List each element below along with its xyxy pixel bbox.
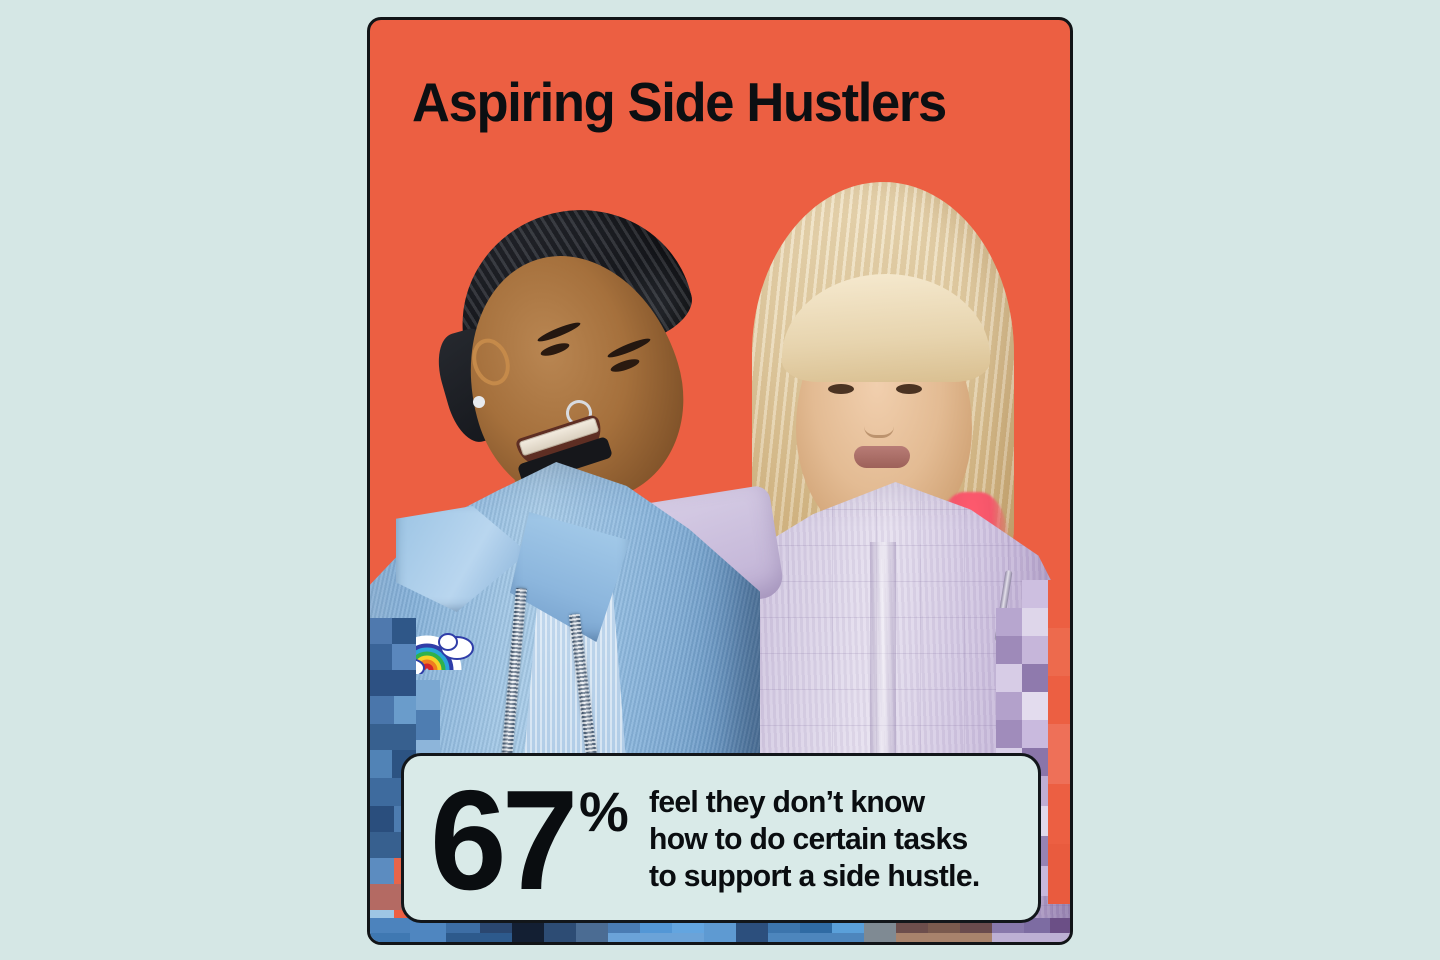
rainbow-pin-icon [393, 612, 475, 674]
poster-card: Aspiring Side Hustlers 67 % feel they do… [367, 17, 1073, 945]
screenshot-root: Aspiring Side Hustlers 67 % feel they do… [0, 0, 1440, 960]
stat-number: 67 [430, 782, 574, 900]
stat-description: feel they don’t know how to do certain t… [649, 783, 980, 894]
lips-right-subject [854, 446, 910, 468]
stat-line-3: to support a side hustle. [649, 857, 980, 894]
percent-symbol: % [579, 784, 627, 840]
nose-right-subject [864, 409, 894, 438]
stat-line-2: how to do certain tasks [649, 820, 980, 857]
eye-right-right-subject [896, 384, 922, 394]
stat-figure: 67 % [430, 776, 627, 900]
eye-left-right-subject [828, 384, 854, 394]
ear-stud-icon [473, 396, 485, 408]
stat-card: 67 % feel they don’t know how to do cert… [401, 753, 1041, 923]
page-title: Aspiring Side Hustlers [412, 72, 946, 132]
stat-line-1: feel they don’t know [649, 783, 980, 820]
